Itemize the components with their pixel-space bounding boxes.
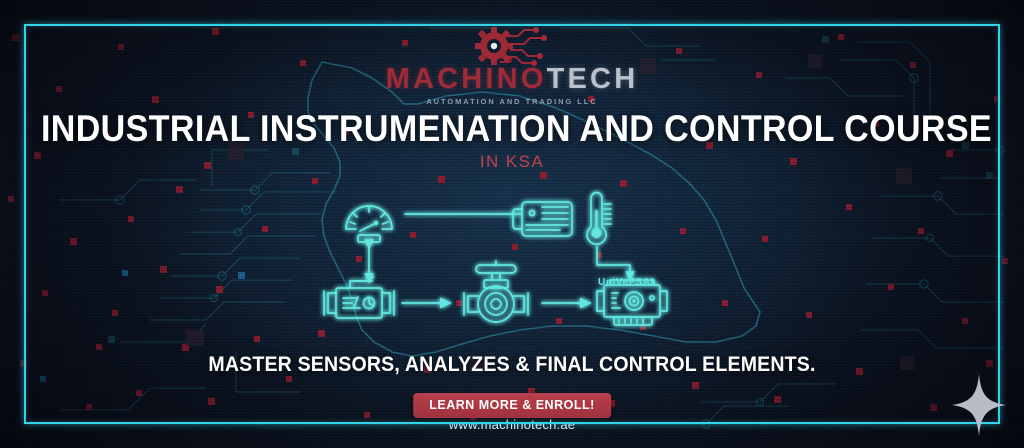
connector-temperature-to-universal bbox=[597, 247, 630, 280]
flow-meter-icon bbox=[324, 277, 394, 318]
brand-wordmark: MACHINOTECH bbox=[0, 65, 1024, 94]
page-subtitle: IN KSA bbox=[0, 152, 1024, 172]
sparkle-star-icon bbox=[952, 374, 1006, 436]
wordmark-part-2: TECH bbox=[547, 63, 639, 95]
instrumentation-process-diagram bbox=[310, 185, 710, 345]
pressure-gauge-icon bbox=[346, 206, 392, 242]
control-valve-icon bbox=[464, 261, 528, 322]
brand-logo: MACHINOTECH AUTOMATION AND TRADING LLC bbox=[0, 24, 1024, 106]
temperature-transmitter-icon bbox=[513, 193, 611, 245]
brand-tagline: AUTOMATION AND TRADING LLC bbox=[0, 97, 1024, 106]
wordmark-part-1: MACHINO bbox=[386, 63, 547, 95]
website-url-link[interactable]: www.machinotech.ae bbox=[0, 417, 1024, 432]
course-promo-banner: MACHINOTECH AUTOMATION AND TRADING LLC I… bbox=[0, 0, 1024, 448]
page-title: INDUSTRIAL INSTRUMENATION AND CONTROL CO… bbox=[41, 108, 983, 150]
learn-more-enroll-button[interactable]: LEARN MORE & ENROLL! bbox=[413, 393, 611, 418]
body-tagline: MASTER SENSORS, ANALYZES & FINAL CONTROL… bbox=[36, 353, 988, 377]
universal-controller-label: UniVeFSAL bbox=[598, 277, 657, 288]
gear-circuit-icon bbox=[464, 24, 560, 68]
